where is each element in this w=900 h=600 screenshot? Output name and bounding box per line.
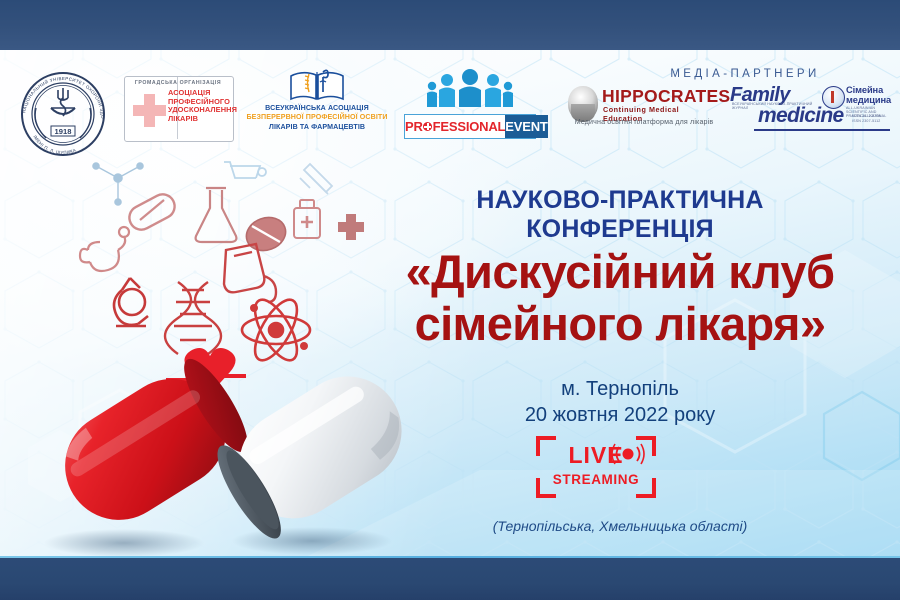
syringe-icon bbox=[300, 164, 332, 194]
association-text: АСОЦІАЦІЯ ПРОФЕСІЙНОГО УДОСКОНАЛЕННЯ ЛІК… bbox=[168, 89, 228, 123]
partner-logos-row: НАЦІОНАЛЬНИЙ УНІВЕРСИТЕТ ОХОРОНИ ЗДОРОВ'… bbox=[0, 50, 900, 166]
title-block: НАУКОВО-ПРАКТИЧНА КОНФЕРЕНЦІЯ «Дискусійн… bbox=[340, 186, 900, 350]
association-logo: ГРОМАДСЬКА ОРГАНІЗАЦІЯ АСОЦІАЦІЯ ПРОФЕСІ… bbox=[124, 72, 232, 144]
professional-pre: PR bbox=[405, 119, 423, 134]
hippocrates-subtitle: Медична освітня платформа для лікарів bbox=[568, 118, 720, 126]
bottom-bar bbox=[0, 558, 900, 600]
conference-banner: НАЦІОНАЛЬНИЙ УНІВЕРСИТЕТ ОХОРОНИ ЗДОРОВ'… bbox=[0, 0, 900, 600]
seal-year: 1918 bbox=[55, 127, 72, 136]
family-medicine-emblem-icon bbox=[822, 86, 845, 109]
association-caption: ГРОМАДСЬКА ОРГАНІЗАЦІЯ bbox=[131, 80, 225, 86]
tablet-pill-icon bbox=[242, 212, 291, 256]
shopping-cart-icon bbox=[224, 162, 266, 178]
vaas-line2: БЕЗПЕРЕРВНОЇ ПРОФЕСІЙНОЇ ОСВІТИ bbox=[243, 113, 391, 122]
vaas-line1: ВСЕУКРАЇНСЬКА АСОЦІАЦІЯ bbox=[243, 104, 391, 113]
vaas-line3: ЛІКАРІВ ТА ФАРМАЦЕВТІВ bbox=[243, 123, 391, 132]
seal-graphic: НАЦІОНАЛЬНИЙ УНІВЕРСИТЕТ ОХОРОНИ ЗДОРОВ'… bbox=[14, 68, 112, 160]
medicine-bottle-icon bbox=[294, 200, 320, 238]
stethoscope-icon bbox=[80, 227, 129, 271]
journal-issn-1: ISSN 2412-8708 bbox=[852, 114, 896, 118]
hippocrates-portrait-icon bbox=[568, 86, 598, 120]
title-line1: «Дискусійний клуб bbox=[340, 246, 900, 298]
broadcast-dot-icon bbox=[610, 442, 646, 466]
page-title: «Дискусійний клуб сімейного лікаря» bbox=[340, 246, 900, 350]
association-line4: ЛІКАРІВ bbox=[168, 115, 228, 124]
flask-icon bbox=[196, 188, 237, 242]
kicker-line1: НАУКОВО-ПРАКТИЧНА bbox=[340, 186, 900, 215]
ua-line1: Сімейна bbox=[846, 85, 898, 95]
family-medicine-ua-title: Сімейна медицина bbox=[846, 85, 898, 105]
live-streaming-badge: LIVE STREAMING bbox=[536, 436, 656, 498]
family-medicine-underline bbox=[754, 129, 890, 131]
event-city: м. Тернопіль bbox=[340, 376, 900, 402]
journal-micro-top: ВСЕУКРАЇНСЬКИЙ НАУКОВО-ПРАКТИЧНИЙ ЖУРНАЛ bbox=[732, 102, 822, 110]
professional-post: FESSIONAL bbox=[433, 119, 506, 134]
capsule-icon bbox=[125, 190, 179, 234]
family-medicine-logo: Family medicine Сімейна медицина ВСЕУКРА… bbox=[730, 84, 890, 140]
conference-kicker: НАУКОВО-ПРАКТИЧНА КОНФЕРЕНЦІЯ bbox=[340, 186, 900, 244]
top-bar bbox=[0, 0, 900, 50]
regions-caption: (Тернопільська, Хмельницька області) bbox=[340, 518, 900, 534]
vaas-text: ВСЕУКРАЇНСЬКА АСОЦІАЦІЯ БЕЗПЕРЕРВНОЇ ПРО… bbox=[243, 104, 391, 132]
ua-line2: медицина bbox=[846, 95, 898, 105]
professional-event-wordmark: PRFESSIONAL EVENT bbox=[404, 114, 536, 139]
event-date: 20 жовтня 2022 року bbox=[340, 402, 900, 428]
molecule-icon bbox=[93, 163, 143, 205]
red-cross-icon-bar bbox=[133, 105, 166, 116]
blood-bag-icon bbox=[224, 244, 276, 302]
event-word: EVENT bbox=[505, 115, 547, 138]
event-place-date: м. Тернопіль 20 жовтня 2022 року bbox=[340, 376, 900, 428]
streaming-label: STREAMING bbox=[542, 472, 650, 487]
professional-word: PRFESSIONAL bbox=[405, 115, 505, 138]
title-line2: сімейного лікаря» bbox=[340, 298, 900, 350]
kicker-line2: КОНФЕРЕНЦІЯ bbox=[340, 215, 900, 244]
hippocrates-wordmark: HIPPOCRATES bbox=[602, 86, 730, 107]
cross-o-icon bbox=[423, 122, 432, 131]
vaas-logo: ВСЕУКРАЇНСЬКА АСОЦІАЦІЯ БЕЗПЕРЕРВНОЇ ПРО… bbox=[243, 66, 391, 150]
open-book-caduceus-icon bbox=[287, 66, 347, 102]
journal-issn-2: ISSN 2307-5112 bbox=[852, 119, 896, 123]
media-partners-label: МЕДІА-ПАРТНЕРИ bbox=[600, 68, 890, 80]
university-seal-logo: НАЦІОНАЛЬНИЙ УНІВЕРСИТЕТ ОХОРОНИ ЗДОРОВ'… bbox=[14, 68, 112, 160]
hippocrates-logo: HIPPOCRATES Continuing Medical Education… bbox=[568, 86, 720, 142]
professional-event-logo: PRFESSIONAL EVENT bbox=[404, 68, 534, 148]
people-group-icon bbox=[420, 68, 520, 112]
